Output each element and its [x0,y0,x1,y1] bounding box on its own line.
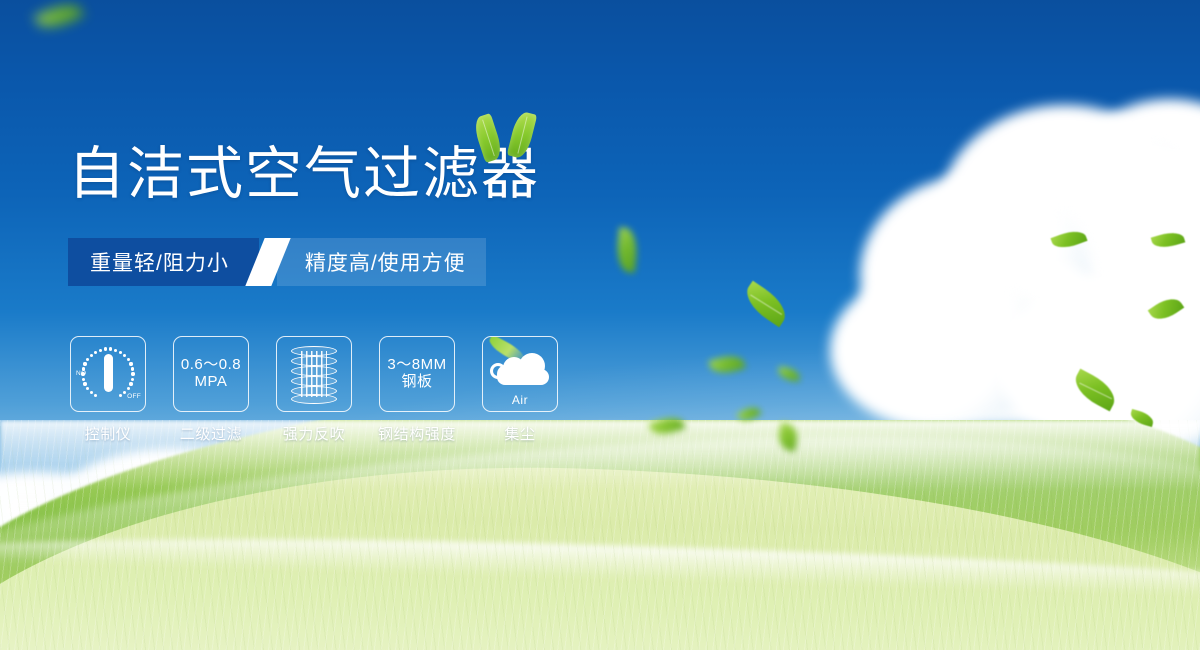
gauge-tick-dot [114,349,117,352]
cartridge-filter-icon [291,346,337,402]
gauge-tick-dot [131,372,134,375]
gauge-tick-dot [90,354,93,357]
subtitle-left: 重量轻/阻力小 [68,238,259,286]
gauge-tick-dot [99,349,102,352]
cloud-base [497,369,549,385]
gauge-tick-dot [83,362,86,365]
cartridge-ring [291,366,337,376]
subtitle-ribbon: 重量轻/阻力小 精度高/使用方便 [68,238,486,286]
steel-plate-text-icon: 3～8MM 钢板 [387,357,446,391]
feature-icon-box[interactable]: 3～8MM 钢板 [379,336,455,412]
gauge-tick-dot [123,354,126,357]
gauge-icon: NO OFF [77,343,139,405]
subtitle-right: 精度高/使用方便 [277,238,486,286]
gauge-tick-dot [86,387,89,390]
gauge-tick-dot [131,367,134,370]
gauge-tick-dot [119,394,122,397]
feature-list: NO OFF 控制仪 0.6～0.8 MPA 二级过滤 [70,336,558,444]
gauge-tick-dot [127,358,130,361]
pressure-text-icon: 0.6～0.8 MPA [181,357,241,391]
steel-line-2: 钢板 [387,374,446,391]
gauge-label-off: OFF [127,393,141,400]
feature-icon-box[interactable] [276,336,352,412]
steel-line-1: 3～8MM [387,357,446,374]
gauge-tick-dot [81,372,84,375]
feature-label: 控制仪 [85,423,132,444]
feature-icon-box[interactable]: 0.6～0.8 MPA [173,336,249,412]
gauge-tick-dot [82,367,85,370]
gauge-tick-dot [90,391,93,394]
feature-icon-box[interactable]: NO OFF [70,336,146,412]
gauge-needle [104,354,113,392]
gauge-tick-dot [129,362,132,365]
cartridge-ring [291,346,337,356]
feature-item-dust-collection[interactable]: Air 集尘 [482,336,558,444]
hero-banner: 自洁式空气过滤器 重量轻/阻力小 精度高/使用方便 NO OFF 控制仪 0 [0,0,1200,650]
gauge-tick-dot [119,351,122,354]
feature-label: 集尘 [504,423,535,444]
feature-item-pressure[interactable]: 0.6～0.8 MPA 二级过滤 [173,336,249,444]
page-title: 自洁式空气过滤器 [68,143,540,206]
feature-label: 强力反吹 [283,423,345,444]
pressure-line-2: MPA [181,374,241,391]
feature-item-controller[interactable]: NO OFF 控制仪 [70,336,146,444]
feature-label: 二级过滤 [180,423,242,444]
cartridge-ring [291,356,337,366]
cartridge-ring [291,394,337,404]
feature-item-blowback[interactable]: 强力反吹 [276,336,352,444]
gauge-tick-dot [82,378,85,381]
gauge-tick-dot [86,358,89,361]
gauge-tick-dot [127,387,130,390]
feature-item-steel[interactable]: 3～8MM 钢板 钢结构强度 [379,336,455,444]
cloud-tower-right [820,105,1200,435]
air-label: Air [489,393,551,407]
gauge-tick-dot [94,351,97,354]
gauge-tick-dot [104,347,107,350]
pressure-line-1: 0.6～0.8 [181,357,241,374]
gauge-tick-dot [123,391,126,394]
feature-label: 钢结构强度 [378,423,456,444]
feature-icon-box[interactable]: Air [482,336,558,412]
gauge-tick-dot [94,394,97,397]
gauge-tick-dot [83,382,86,385]
gauge-tick-dot [129,382,132,385]
grass-field [0,420,1200,650]
gauge-tick-dot [131,378,134,381]
air-cloud-icon: Air [489,347,551,401]
cartridge-ring [291,376,337,386]
gauge-tick-dot [109,347,112,350]
